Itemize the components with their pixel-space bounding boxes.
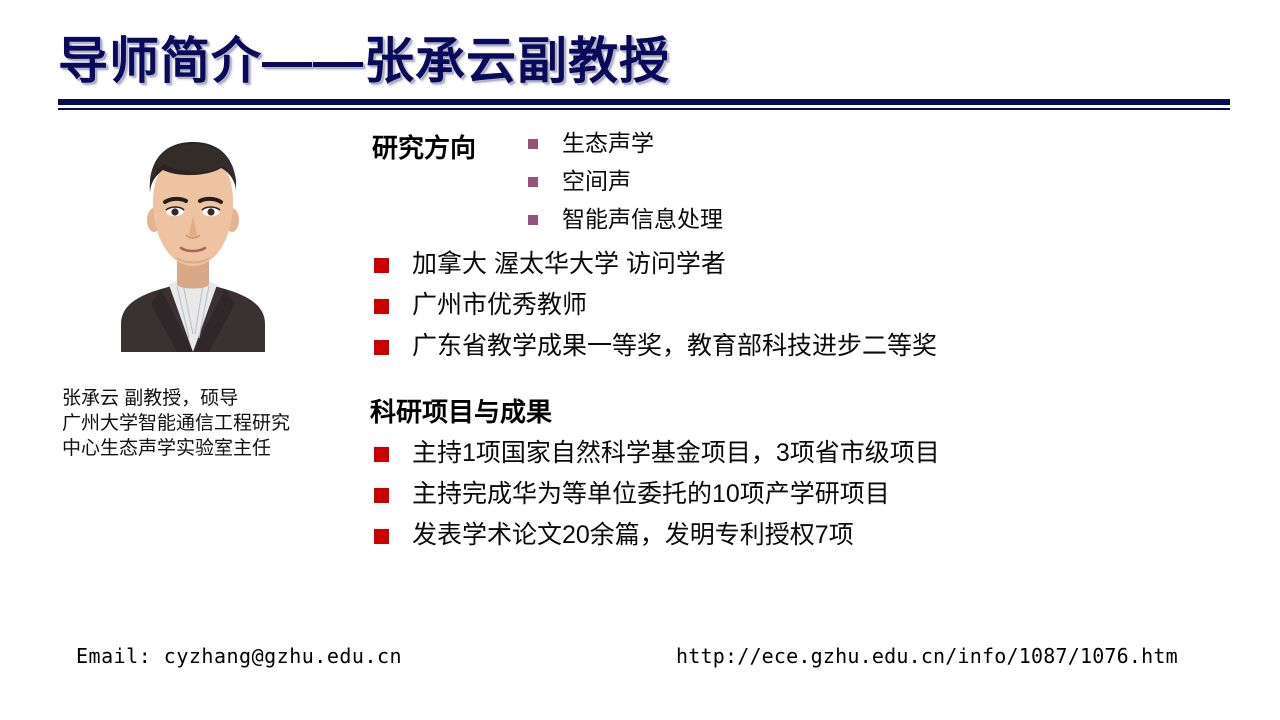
list-item-label: 生态声学 [562, 130, 654, 156]
list-item: 广东省教学成果一等奖，教育部科技进步二等奖 [370, 326, 1250, 367]
list-item-label: 智能声信息处理 [562, 206, 723, 232]
square-bullet-icon [374, 447, 389, 462]
portrait-photo-image [107, 128, 279, 352]
square-bullet-icon [374, 529, 389, 544]
projects-heading: 科研项目与成果 [370, 395, 1250, 429]
portrait-photo [107, 128, 279, 352]
list-item: 加拿大 渥太华大学 访问学者 [370, 244, 1250, 285]
square-bullet-icon [374, 488, 389, 503]
square-bullet-icon [528, 215, 538, 225]
list-item-label: 主持1项国家自然科学基金项目，3项省市级项目 [412, 439, 940, 467]
page-title: 导师简介——张承云副教授 [58, 30, 1238, 92]
list-item: 空间声 [528, 162, 723, 200]
list-item: 生态声学 [528, 124, 723, 162]
photo-caption-line-1: 张承云 副教授，硕导 [62, 386, 372, 411]
research-heading: 研究方向 [372, 128, 476, 165]
list-item-label: 广东省教学成果一等奖，教育部科技进步二等奖 [412, 332, 937, 360]
title-divider-thick [58, 99, 1230, 105]
list-item-label: 主持完成华为等单位委托的10项产学研项目 [412, 480, 890, 508]
research-section: 研究方向 生态声学 空间声 智能声信息处理 [370, 124, 1250, 236]
list-item-label: 发表学术论文20余篇，发明专利授权7项 [412, 521, 854, 549]
square-bullet-icon [374, 299, 389, 314]
awards-list: 加拿大 渥太华大学 访问学者 广州市优秀教师 广东省教学成果一等奖，教育部科技进… [370, 244, 1250, 367]
title-divider-thin [58, 108, 1230, 110]
photo-caption-line-2: 广州大学智能通信工程研究 [62, 411, 372, 436]
content-column: 研究方向 生态声学 空间声 智能声信息处理 加拿大 渥太华大学 [370, 124, 1250, 556]
list-item-label: 加拿大 渥太华大学 访问学者 [412, 250, 726, 278]
list-item: 发表学术论文20余篇，发明专利授权7项 [370, 515, 1250, 556]
footer-url[interactable]: http://ece.gzhu.edu.cn/info/1087/1076.ht… [676, 644, 1178, 668]
square-bullet-icon [374, 340, 389, 355]
list-item: 广州市优秀教师 [370, 285, 1250, 326]
photo-caption: 张承云 副教授，硕导 广州大学智能通信工程研究 中心生态声学实验室主任 [62, 386, 372, 461]
list-item: 主持完成华为等单位委托的10项产学研项目 [370, 474, 1250, 515]
title-area: 导师简介——张承云副教授 [58, 30, 1238, 102]
square-bullet-icon [374, 258, 389, 273]
square-bullet-icon [528, 139, 538, 149]
list-item-label: 广州市优秀教师 [412, 291, 587, 319]
photo-caption-line-3: 中心生态声学实验室主任 [62, 436, 372, 461]
square-bullet-icon [528, 177, 538, 187]
footer-email: Email: cyzhang@gzhu.edu.cn [76, 644, 402, 668]
list-item: 主持1项国家自然科学基金项目，3项省市级项目 [370, 433, 1250, 474]
research-list: 生态声学 空间声 智能声信息处理 [528, 124, 723, 238]
slide-root: 导师简介——张承云副教授 [0, 0, 1280, 720]
list-item-label: 空间声 [562, 168, 631, 194]
list-item: 智能声信息处理 [528, 200, 723, 238]
projects-list: 主持1项国家自然科学基金项目，3项省市级项目 主持完成华为等单位委托的10项产学… [370, 433, 1250, 556]
